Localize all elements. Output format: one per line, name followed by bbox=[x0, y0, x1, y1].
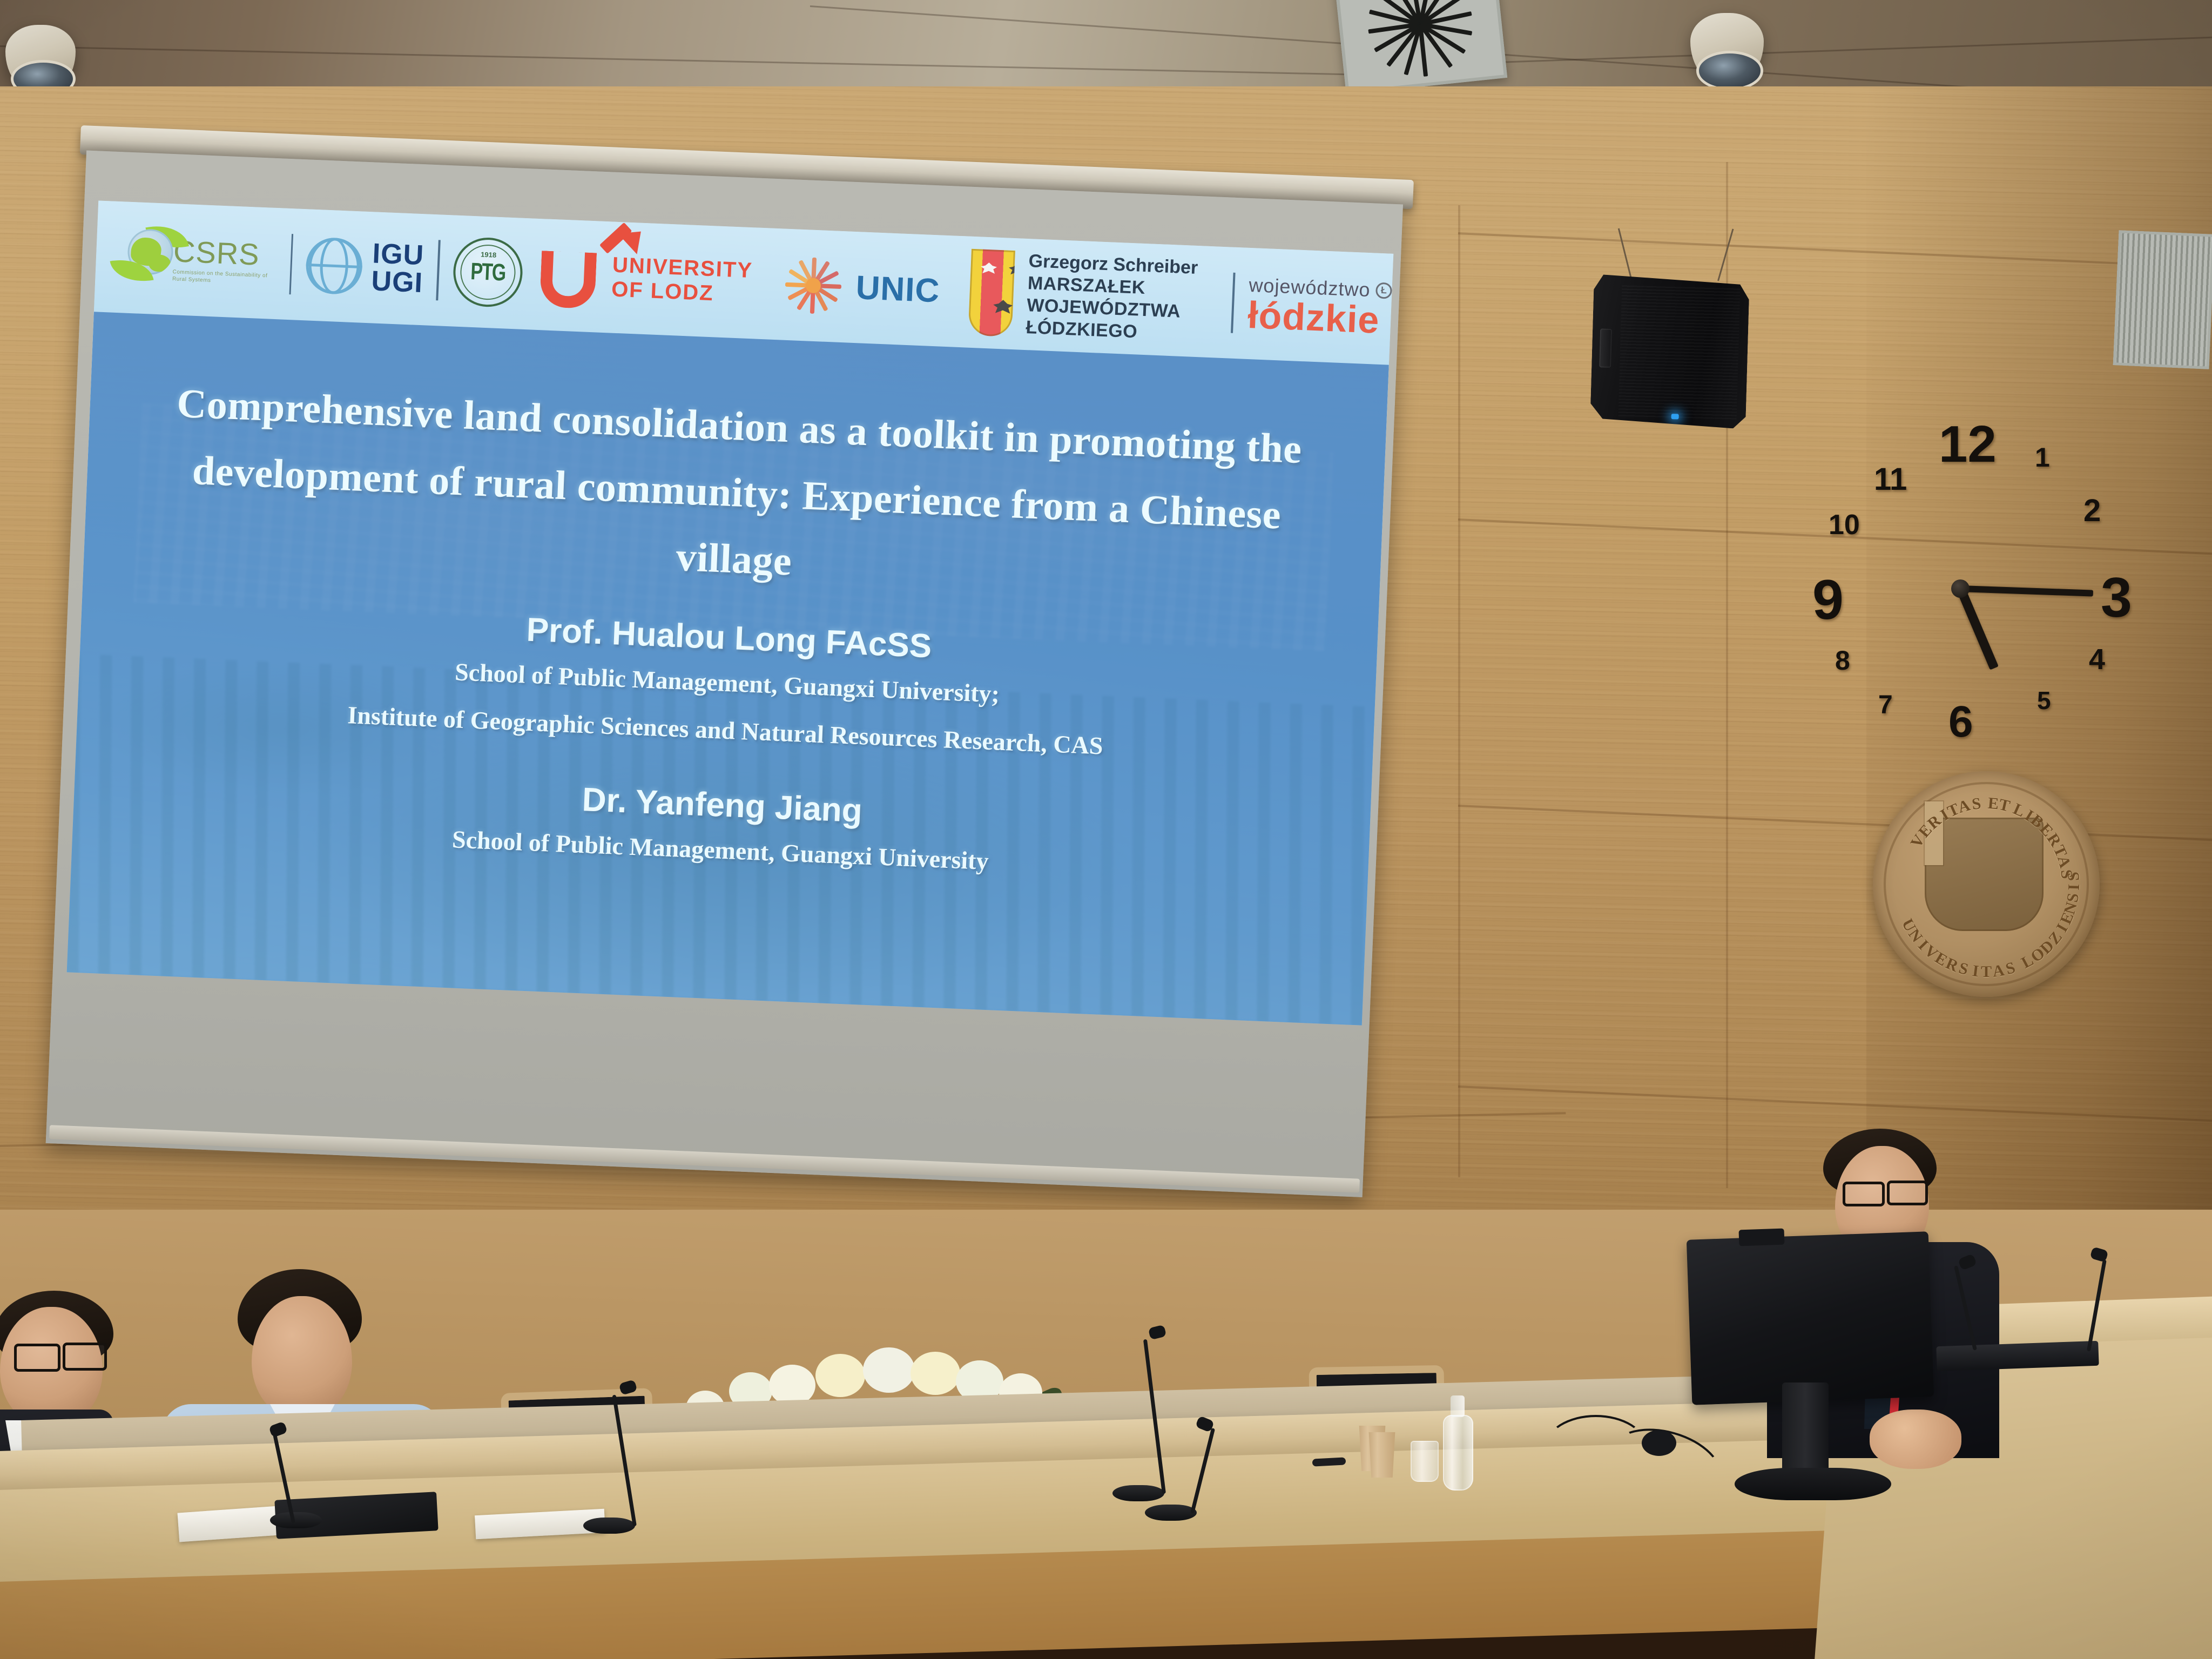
speaker-glasses-icon bbox=[1843, 1182, 1885, 1206]
speaker-power-led bbox=[1671, 414, 1678, 419]
projection-screen: CSRS Commission on the Sustainability of… bbox=[38, 125, 1495, 1219]
mic-base bbox=[583, 1518, 635, 1534]
seal-institution: U N I V E R S I T A S L O D Z I E N S I … bbox=[1873, 771, 2100, 997]
speaker-hands bbox=[1870, 1410, 1961, 1469]
mic-base bbox=[1112, 1485, 1164, 1501]
flower-bloom bbox=[911, 1352, 960, 1395]
mic-base bbox=[1145, 1505, 1197, 1521]
screen-surface: CSRS Commission on the Sustainability of… bbox=[46, 150, 1403, 1197]
logo-marszalek: Grzegorz Schreiber MARSZAŁEK WOJEWÓDZTWA… bbox=[968, 248, 1209, 346]
ptg-monogram: PTG bbox=[470, 258, 505, 286]
slide-title: Comprehensive land consolidation as a to… bbox=[147, 369, 1326, 617]
speaker-glasses-icon bbox=[1887, 1181, 1928, 1205]
clock-numeral-10: 10 bbox=[1829, 509, 1860, 541]
ceiling-spotlight bbox=[1690, 13, 1764, 87]
confidence-monitor bbox=[1687, 1231, 1934, 1405]
university-seal: V E R I T A S E T L I B E R T A S U N I … bbox=[1873, 771, 2100, 997]
scene-root: CSRS Commission on the Sustainability of… bbox=[0, 0, 2212, 1659]
logo-wojewodztwo-lodzkie: województwo Ł łódzkie bbox=[1247, 274, 1392, 339]
speaker-handle bbox=[1599, 328, 1612, 368]
mic-base bbox=[270, 1512, 322, 1528]
drinking-glass bbox=[1411, 1441, 1439, 1482]
clock-numeral-2: 2 bbox=[2083, 493, 2101, 529]
logo-divider bbox=[436, 240, 441, 300]
flower-bloom bbox=[863, 1347, 915, 1393]
logo-igu-ugi: IGU UGI bbox=[305, 237, 425, 298]
clock-numeral-12: 12 bbox=[1939, 415, 1997, 474]
clock-minute-hand bbox=[1960, 585, 2093, 597]
clock-numeral-1: 1 bbox=[2035, 442, 2050, 473]
presentation-slide: CSRS Commission on the Sustainability of… bbox=[67, 200, 1394, 1025]
csrs-globe-leaf-icon bbox=[114, 224, 172, 293]
clock-hour-hand bbox=[1957, 587, 1999, 670]
panelist-left-glasses-icon bbox=[14, 1344, 60, 1372]
logo-divider bbox=[1231, 273, 1236, 333]
csrs-tagline: Commission on the Sustainability of Rura… bbox=[172, 269, 276, 287]
lodzkie-coat-of-arms-icon bbox=[968, 249, 1015, 337]
slide-title-panel: Comprehensive land consolidation as a to… bbox=[67, 312, 1389, 1025]
cable-coil bbox=[1642, 1430, 1676, 1456]
logo-unic: UNIC bbox=[780, 252, 941, 322]
logo-divider bbox=[289, 234, 293, 294]
water-carafe bbox=[1443, 1415, 1473, 1491]
speaker-grille bbox=[1618, 284, 1740, 420]
clock-numeral-7: 7 bbox=[1878, 690, 1893, 720]
clock-numeral-8: 8 bbox=[1835, 645, 1850, 676]
marszalek-region: WOJEWÓDZTWA ŁÓDZKIEGO bbox=[1026, 294, 1208, 346]
clock-center-hub bbox=[1951, 579, 1970, 598]
uol-arrow-u-icon bbox=[539, 242, 602, 309]
ptg-seal-icon: 1918 PTG bbox=[452, 237, 524, 308]
ptg-year: 1918 bbox=[481, 251, 497, 259]
wall-vent-grate bbox=[2113, 230, 2212, 369]
wall-clock: 12 1 2 3 4 5 6 7 8 9 10 11 bbox=[1777, 410, 2144, 767]
csrs-wordmark: CSRS bbox=[173, 236, 277, 271]
panelist-left-glasses-icon bbox=[63, 1343, 107, 1371]
flower-bloom bbox=[815, 1354, 865, 1397]
clock-numeral-4: 4 bbox=[2089, 643, 2105, 676]
clock-numeral-3: 3 bbox=[2101, 566, 2132, 630]
paper-cup bbox=[1366, 1432, 1398, 1478]
monitor-webcam bbox=[1739, 1229, 1785, 1246]
ceiling-spotlight bbox=[5, 25, 76, 95]
clock-numeral-11: 11 bbox=[1874, 461, 1907, 497]
lodzkie-mark-icon: Ł bbox=[1375, 282, 1392, 299]
clock-numeral-5: 5 bbox=[2037, 686, 2051, 715]
monitor-base bbox=[1735, 1468, 1891, 1500]
clock-numeral-9: 9 bbox=[1812, 568, 1844, 632]
panelist-right-head bbox=[252, 1296, 352, 1418]
lodzkie-line-2: łódzkie bbox=[1247, 296, 1380, 339]
igu-globe-icon bbox=[305, 237, 363, 295]
unic-sun-icon bbox=[780, 252, 847, 319]
logo-polish-geographical-society: 1918 PTG bbox=[452, 237, 524, 308]
unic-wordmark: UNIC bbox=[855, 268, 940, 310]
pa-speaker bbox=[1590, 274, 1750, 429]
clock-numeral-6: 6 bbox=[1948, 697, 1973, 747]
logo-csrs: CSRS Commission on the Sustainability of… bbox=[114, 224, 278, 297]
igu-line-2: UGI bbox=[371, 267, 423, 297]
logo-university-of-lodz: UNIVERSITY OF LODZ bbox=[539, 242, 754, 315]
